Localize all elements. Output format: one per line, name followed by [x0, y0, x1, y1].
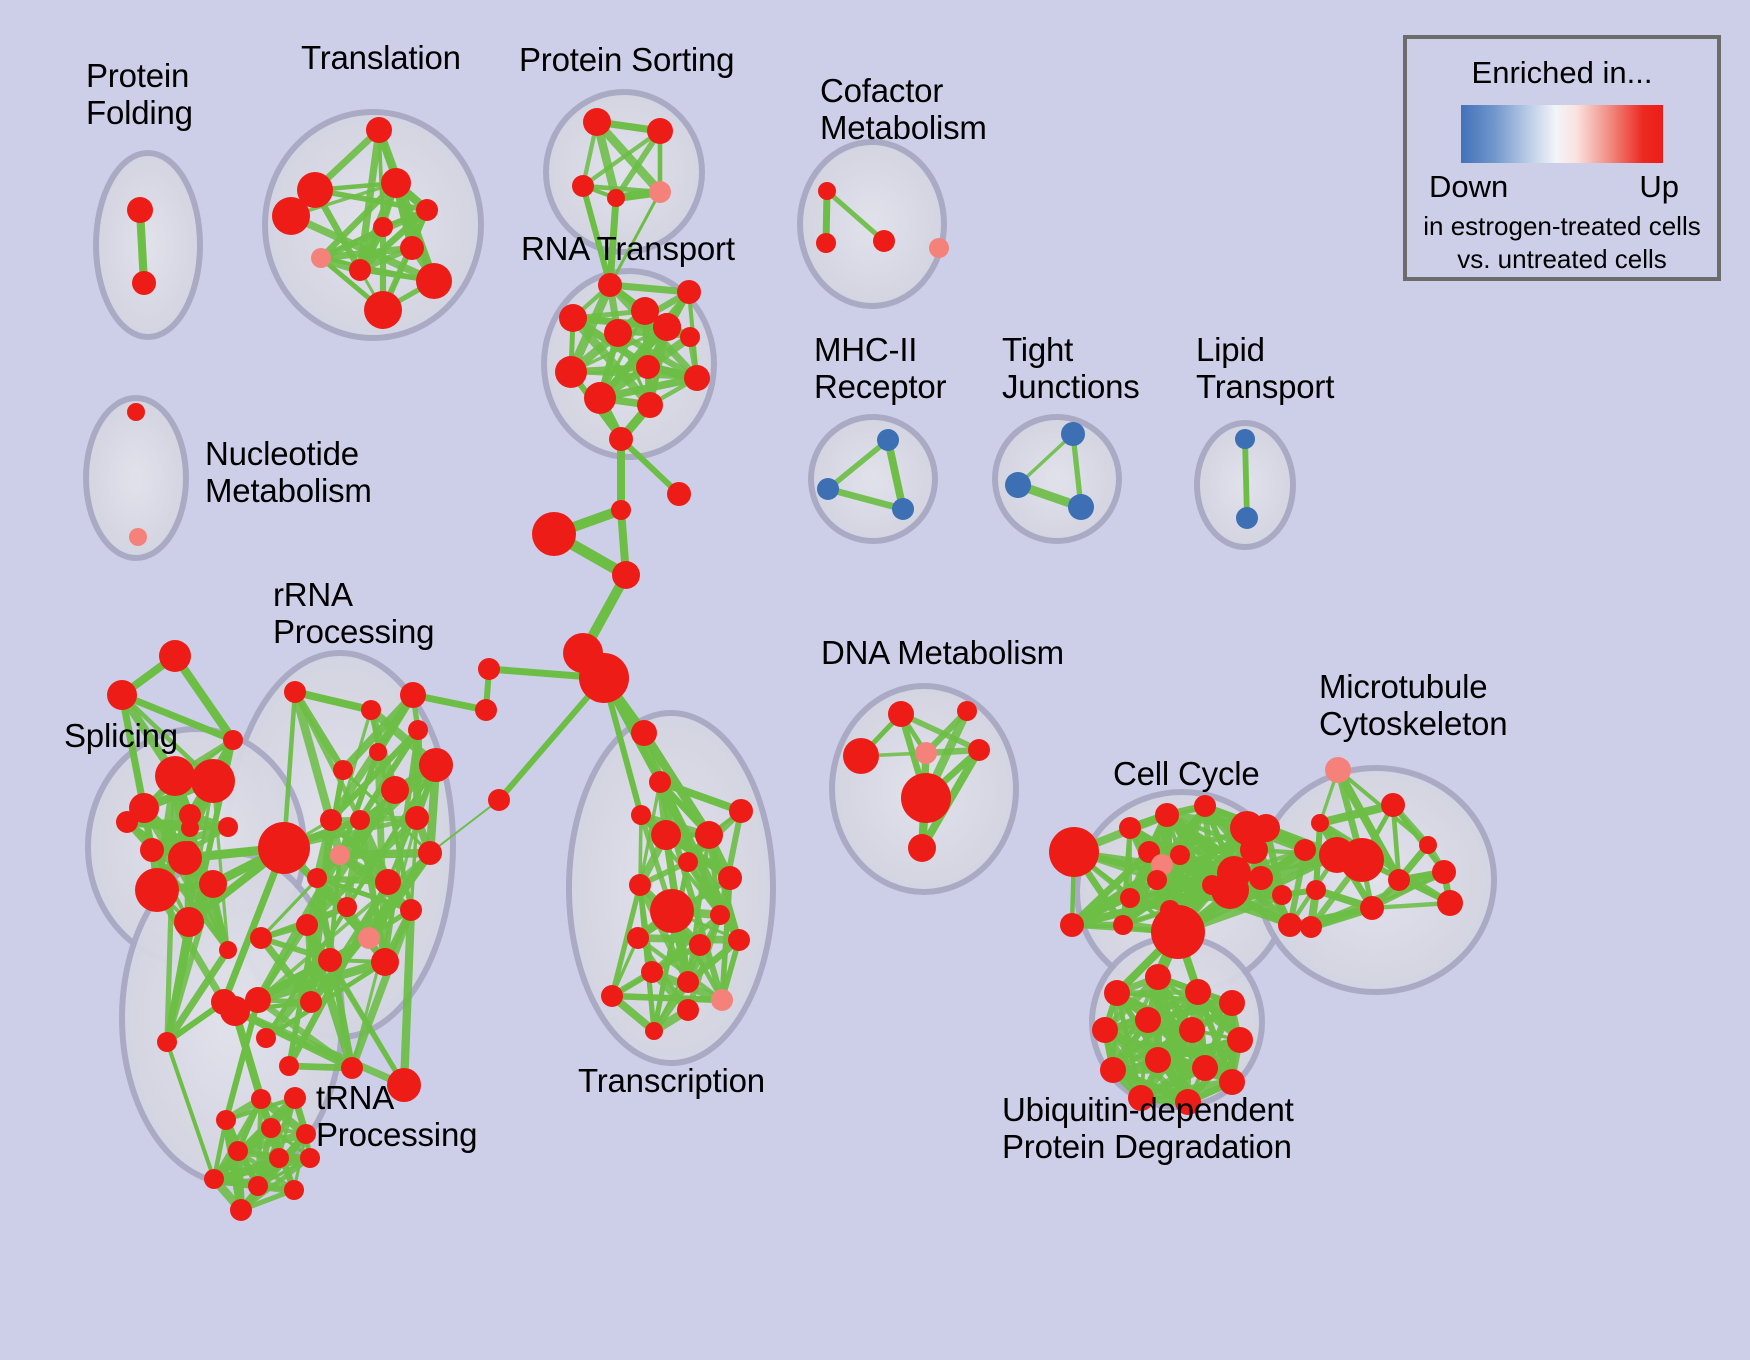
network-node	[408, 720, 428, 740]
network-node	[1100, 1057, 1126, 1083]
network-node	[873, 230, 895, 252]
cluster-label-trna-processing: tRNA Processing	[316, 1080, 477, 1154]
cluster-label-protein-sorting: Protein Sorting	[519, 42, 734, 79]
network-node	[1061, 422, 1085, 446]
network-node	[199, 870, 227, 898]
network-node	[1306, 880, 1326, 900]
network-node	[598, 273, 622, 297]
network-node	[416, 199, 438, 221]
network-node	[816, 233, 836, 253]
network-node	[204, 1169, 224, 1189]
network-node	[604, 319, 632, 347]
cluster-hull-protein-folding	[96, 153, 200, 337]
network-node	[191, 759, 235, 803]
network-node	[1432, 860, 1456, 884]
network-node	[349, 259, 371, 281]
network-node	[1360, 896, 1384, 920]
network-node	[140, 838, 164, 862]
network-node	[228, 1141, 248, 1161]
network-node	[296, 1124, 316, 1144]
network-node	[1145, 1047, 1171, 1073]
network-node	[261, 1118, 281, 1138]
network-node	[1294, 839, 1316, 861]
network-node	[677, 280, 701, 304]
network-node	[211, 989, 237, 1015]
network-node	[223, 730, 243, 750]
network-node	[627, 927, 649, 949]
network-node	[381, 168, 411, 198]
network-node	[583, 108, 611, 136]
cluster-label-ubiquitin-protein-degradation: Ubiquitin-dependent Protein Degradation	[1002, 1092, 1294, 1166]
cluster-label-protein-folding: Protein Folding	[86, 58, 193, 132]
cluster-label-mhc-ii-receptor: MHC-II Receptor	[814, 332, 946, 406]
network-node	[418, 841, 442, 865]
network-node	[555, 356, 587, 388]
network-node	[901, 773, 951, 823]
network-node	[607, 189, 625, 207]
cluster-label-dna-metabolism: DNA Metabolism	[821, 635, 1064, 672]
legend-title: Enriched in...	[1407, 55, 1717, 91]
network-node	[375, 869, 401, 895]
network-node	[929, 238, 949, 258]
network-node	[718, 866, 742, 890]
network-node	[728, 929, 750, 951]
network-node	[251, 1089, 271, 1109]
cluster-label-cell-cycle: Cell Cycle	[1113, 756, 1260, 793]
network-node	[330, 845, 350, 865]
network-node	[129, 528, 147, 546]
network-node	[1381, 793, 1405, 817]
cluster-label-rna-transport: RNA Transport	[521, 231, 735, 268]
cluster-label-cofactor-metabolism: Cofactor Metabolism	[820, 73, 987, 147]
cluster-label-translation: Translation	[301, 40, 461, 77]
network-node	[216, 1110, 236, 1130]
network-node	[1211, 871, 1249, 909]
legend-high-label: Up	[1639, 169, 1679, 205]
network-node	[272, 197, 310, 235]
network-node	[1437, 890, 1463, 916]
network-node	[584, 382, 616, 414]
network-node	[405, 806, 429, 830]
network-node	[1068, 494, 1094, 520]
enrichment-network-figure: Protein FoldingTranslationProtein Sortin…	[0, 0, 1750, 1360]
cluster-label-lipid-transport: Lipid Transport	[1196, 332, 1334, 406]
network-edge	[1245, 439, 1247, 518]
network-node	[843, 738, 879, 774]
network-node	[684, 365, 710, 391]
network-node	[631, 805, 651, 825]
network-node	[284, 1180, 304, 1200]
network-node	[957, 701, 977, 721]
network-node	[609, 427, 633, 451]
network-node	[532, 512, 576, 556]
network-node	[636, 355, 660, 379]
network-node	[1219, 990, 1245, 1016]
network-node	[320, 809, 342, 831]
network-node	[892, 498, 914, 520]
network-edge	[1130, 895, 1282, 898]
network-node	[667, 482, 691, 506]
network-node	[400, 236, 424, 260]
network-node	[1388, 869, 1410, 891]
network-node	[218, 817, 238, 837]
network-edge	[638, 938, 739, 940]
network-node	[155, 756, 195, 796]
network-node	[649, 771, 671, 793]
network-node	[1340, 838, 1384, 882]
network-node	[127, 197, 153, 223]
legend-caption-line-1: in estrogen-treated cells	[1407, 211, 1717, 242]
network-node	[1049, 827, 1099, 877]
network-node	[611, 500, 631, 520]
network-node	[1235, 429, 1255, 449]
network-node	[559, 304, 587, 332]
network-node	[478, 658, 500, 680]
network-node	[1192, 1055, 1218, 1081]
network-node	[1135, 1007, 1161, 1033]
network-node	[1170, 845, 1190, 865]
network-node	[653, 313, 681, 341]
network-node	[269, 1148, 289, 1168]
network-node	[366, 117, 392, 143]
cluster-label-transcription: Transcription	[578, 1063, 765, 1100]
network-node	[877, 429, 899, 451]
network-node	[135, 868, 179, 912]
network-node	[689, 934, 711, 956]
network-node	[629, 874, 651, 896]
network-node	[1060, 913, 1084, 937]
cluster-hull-protein-sorting	[546, 92, 702, 252]
network-node	[400, 682, 426, 708]
network-node	[373, 217, 393, 237]
network-node	[361, 700, 381, 720]
network-node	[677, 999, 699, 1021]
network-node	[1236, 507, 1258, 529]
cluster-label-rrna-processing: rRNA Processing	[273, 577, 434, 651]
network-node	[1194, 795, 1216, 817]
network-node	[219, 941, 237, 959]
network-node	[1272, 885, 1292, 905]
network-node	[127, 403, 145, 421]
network-node	[645, 1022, 663, 1040]
network-node	[1185, 979, 1211, 1005]
network-node	[159, 640, 191, 672]
network-node	[711, 989, 733, 1011]
network-node	[116, 811, 138, 833]
network-node	[1145, 964, 1171, 990]
legend-color-gradient-bar	[1461, 105, 1663, 163]
network-node	[174, 907, 204, 937]
network-node	[157, 1032, 177, 1052]
network-node	[908, 834, 936, 862]
network-node	[333, 760, 353, 780]
network-node	[677, 971, 699, 993]
cluster-label-splicing: Splicing	[64, 718, 178, 755]
network-node	[817, 478, 839, 500]
network-node	[1419, 836, 1437, 854]
network-edge	[340, 853, 430, 855]
network-node	[416, 263, 452, 299]
network-node	[1325, 757, 1351, 783]
network-node	[1005, 472, 1031, 498]
network-node	[680, 327, 700, 347]
network-node	[258, 822, 310, 874]
network-node	[364, 291, 402, 329]
network-node	[729, 799, 753, 823]
network-node	[1119, 817, 1141, 839]
network-node	[181, 819, 199, 837]
network-node	[350, 810, 370, 830]
network-node	[579, 653, 629, 703]
network-node	[371, 948, 399, 976]
network-node	[341, 1057, 363, 1079]
network-node	[337, 897, 357, 917]
network-node	[279, 1056, 299, 1076]
network-node	[419, 748, 453, 782]
network-node	[307, 868, 327, 888]
network-node	[1227, 1027, 1253, 1053]
cluster-hull-cofactor-metabolism	[800, 142, 944, 306]
network-node	[300, 991, 322, 1013]
network-node	[572, 175, 594, 197]
network-node	[1120, 888, 1140, 908]
network-node	[248, 1176, 268, 1196]
network-node	[369, 743, 387, 761]
network-node	[284, 681, 306, 703]
network-node	[230, 1199, 252, 1221]
network-node	[647, 118, 673, 144]
network-node	[818, 182, 836, 200]
legend-caption-line-2: vs. untreated cells	[1407, 244, 1717, 275]
network-node	[1311, 814, 1329, 832]
legend-panel: Enriched in... Down Up in estrogen-treat…	[1403, 35, 1721, 281]
network-node	[631, 720, 657, 746]
network-node	[250, 927, 272, 949]
network-node	[710, 905, 730, 925]
network-node	[1147, 870, 1167, 890]
network-node	[256, 1028, 276, 1048]
network-node	[358, 927, 380, 949]
network-node	[318, 948, 342, 972]
network-node	[612, 561, 640, 589]
network-node	[678, 852, 698, 872]
network-node	[488, 789, 510, 811]
network-edge	[612, 996, 722, 1000]
network-node	[1155, 803, 1179, 827]
network-node	[1278, 913, 1302, 937]
network-node	[651, 820, 681, 850]
cluster-label-nucleotide-metabolism: Nucleotide Metabolism	[205, 436, 372, 510]
network-node	[649, 181, 671, 203]
network-node	[888, 701, 914, 727]
cluster-label-tight-junctions: Tight Junctions	[1002, 332, 1140, 406]
network-node	[475, 699, 497, 721]
network-node	[311, 248, 331, 268]
network-node	[1151, 905, 1205, 959]
network-node	[968, 739, 990, 761]
network-node	[381, 776, 409, 804]
network-node	[637, 392, 663, 418]
network-node	[132, 271, 156, 295]
network-node	[168, 841, 202, 875]
legend-low-label: Down	[1429, 169, 1508, 205]
network-node	[1300, 916, 1322, 938]
legend-endpoint-labels: Down Up	[1407, 169, 1717, 209]
network-node	[1113, 915, 1133, 935]
network-node	[1179, 1017, 1205, 1043]
cluster-label-microtubule-cytoskeleton: Microtubule Cytoskeleton	[1319, 669, 1507, 743]
network-node	[650, 889, 694, 933]
network-node	[1249, 866, 1273, 890]
network-node	[915, 742, 937, 764]
network-node	[1092, 1017, 1118, 1043]
network-node	[296, 914, 318, 936]
network-node	[641, 961, 663, 983]
network-node	[284, 1087, 306, 1109]
network-node	[400, 899, 422, 921]
network-node	[107, 680, 137, 710]
network-node	[601, 985, 623, 1007]
network-node	[695, 821, 723, 849]
network-node	[1104, 980, 1130, 1006]
